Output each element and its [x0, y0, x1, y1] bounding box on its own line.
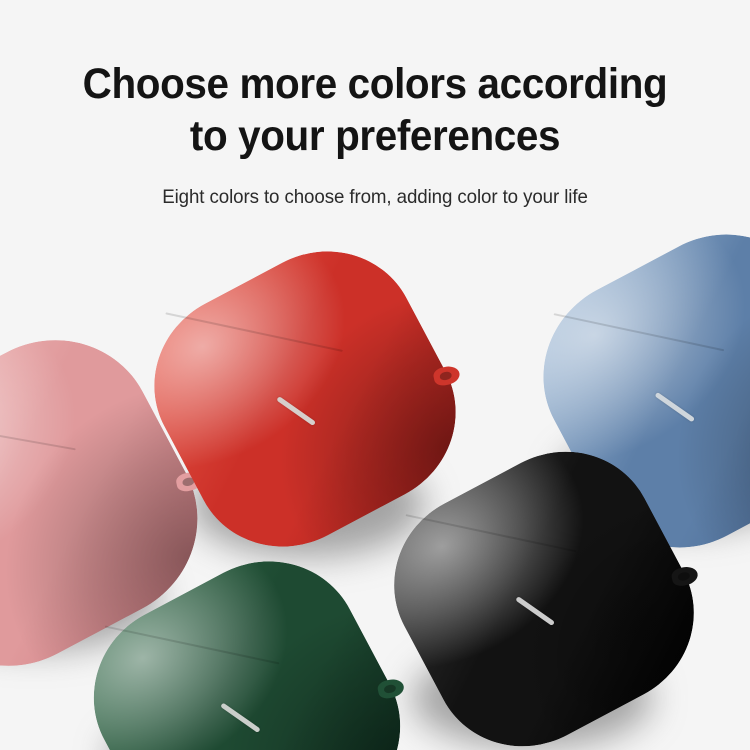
headline-line-2: to your preferences: [23, 110, 728, 162]
promo-banner: Choose more colors according to your pre…: [0, 0, 750, 750]
headline-block: Choose more colors according to your pre…: [0, 58, 750, 210]
page-title: Choose more colors according to your pre…: [23, 58, 728, 162]
subtitle: Eight colors to choose from, adding colo…: [15, 184, 735, 210]
headline-line-1: Choose more colors according: [23, 58, 728, 110]
